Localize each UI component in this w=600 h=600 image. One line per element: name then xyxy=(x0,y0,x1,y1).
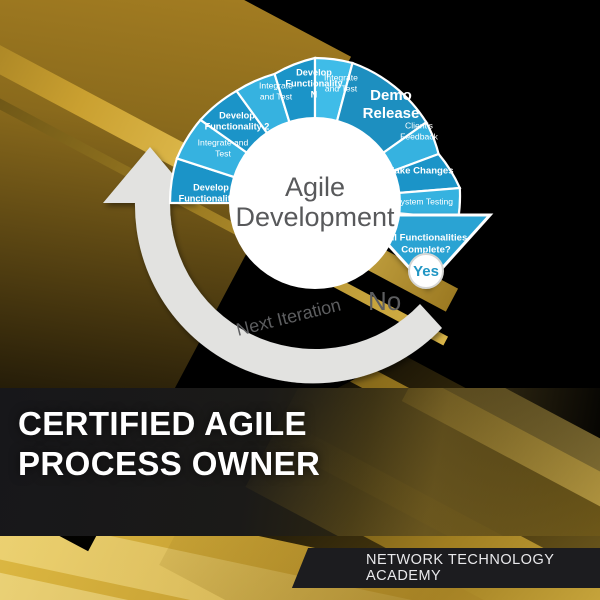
label-integrate-test-2-b: and Test xyxy=(260,91,293,101)
title-band: CERTIFIED AGILE PROCESS OWNER xyxy=(0,388,600,536)
footer-band: NETWORK TECHNOLOGY ACADEMY xyxy=(0,536,600,600)
label-yes: Yes xyxy=(413,263,439,280)
label-system-testing: System Testing xyxy=(395,196,453,206)
label-clients-feedback-a: Client's xyxy=(405,120,433,130)
diagram-center-line1: Agile xyxy=(285,172,345,202)
label-integrate-test-1-b: Test xyxy=(215,148,231,158)
label-integrate-test-3-a: Integrate xyxy=(324,72,358,82)
label-develop-functionality-1-b: Functionality 1 xyxy=(179,193,244,203)
label-integrate-test-1-a: Integrate and xyxy=(198,137,249,147)
label-develop-functionality-2-b: Functionality 2 xyxy=(205,121,270,131)
label-develop-functionality-n-c: N xyxy=(311,89,318,99)
label-decision-line1: All Functionalities xyxy=(385,233,468,244)
label-clients-feedback-b: Feedback xyxy=(400,131,438,141)
label-no: No xyxy=(368,286,401,316)
page-title: CERTIFIED AGILE PROCESS OWNER xyxy=(18,404,320,485)
poster-canvas: Agile Development Develop Functionality … xyxy=(0,0,600,600)
label-integrate-test-3-b: and Test xyxy=(325,83,358,93)
label-next-iteration: Next Iteration xyxy=(234,295,343,340)
agile-cycle-diagram: Agile Development Develop Functionality … xyxy=(130,18,500,378)
label-make-changes: Make Changes xyxy=(386,166,453,177)
diagram-center-line2: Development xyxy=(235,202,395,232)
label-demo-release-a: Demo xyxy=(370,87,412,104)
label-develop-functionality-2-a: Develop xyxy=(219,110,255,120)
label-develop-functionality-1-a: Develop xyxy=(193,182,229,192)
academy-name: NETWORK TECHNOLOGY ACADEMY xyxy=(366,548,600,588)
label-next-iteration-group: Next Iteration xyxy=(234,295,343,340)
